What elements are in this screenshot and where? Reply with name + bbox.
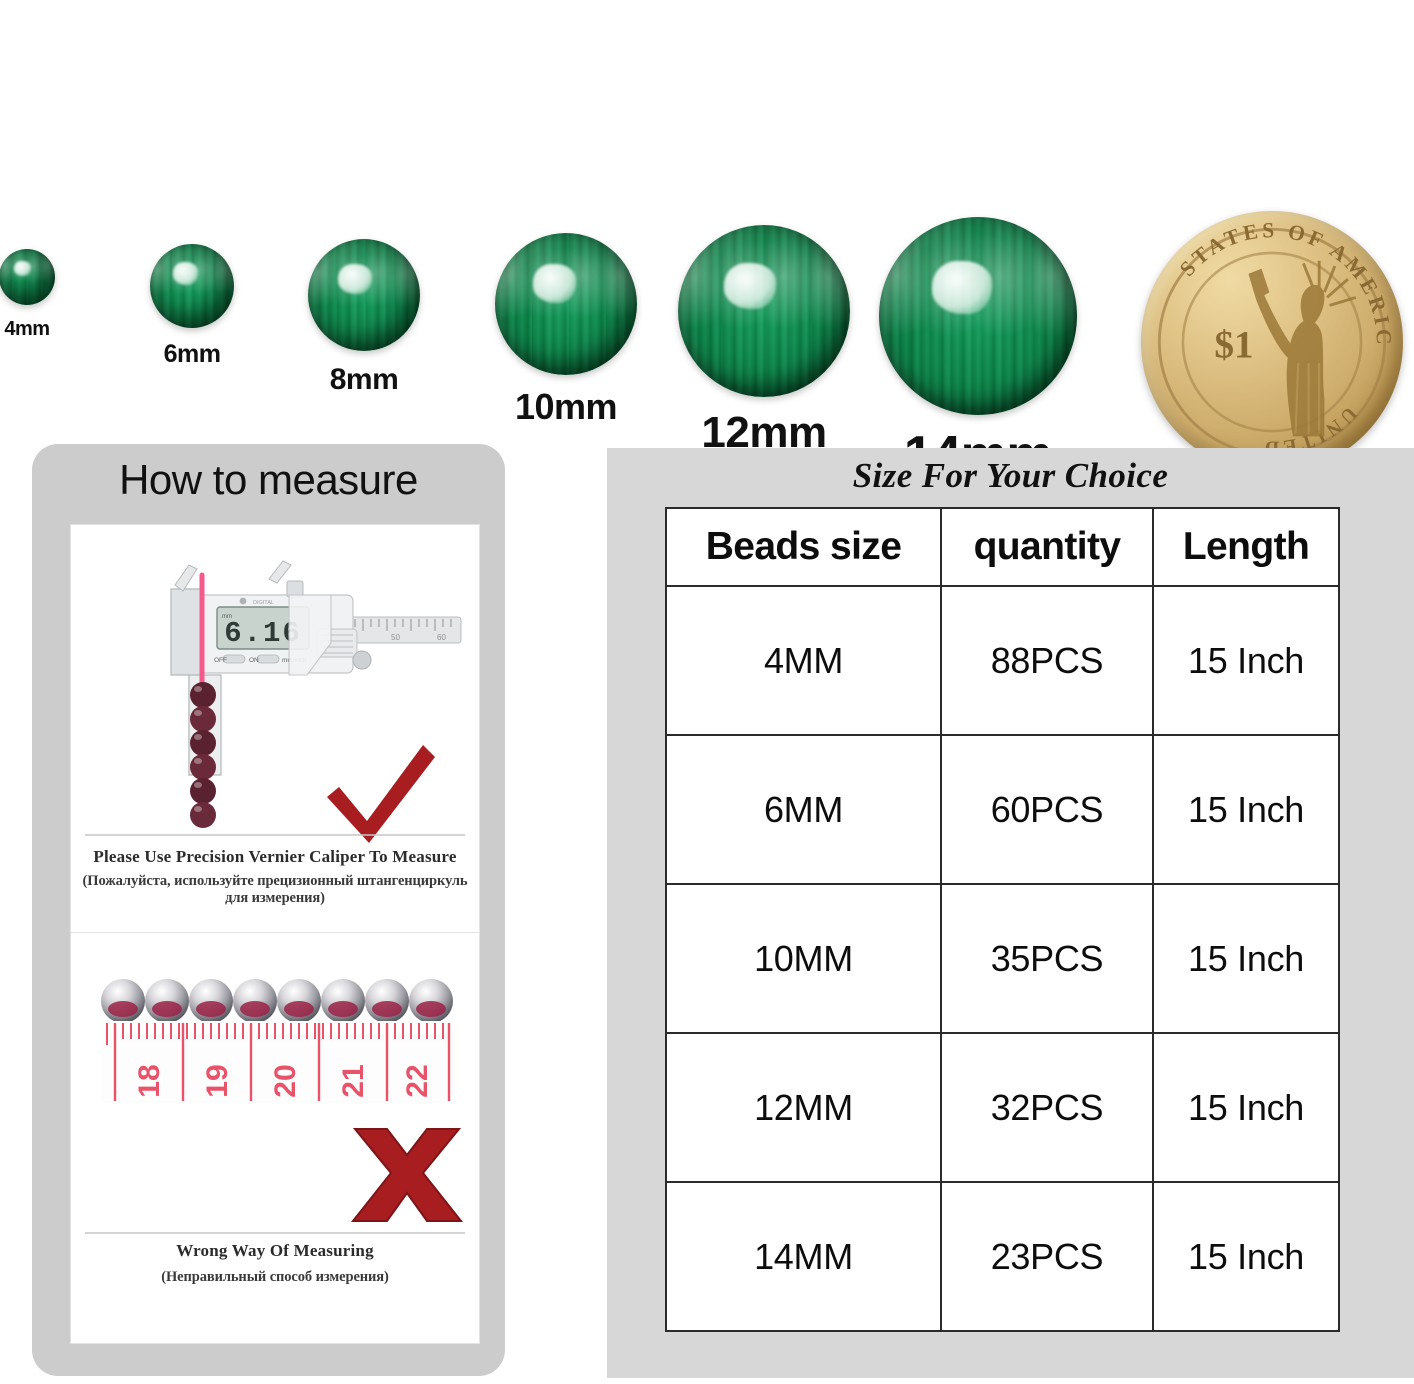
cell-beads-size: 10MM [666, 884, 941, 1033]
table-body: 4MM 88PCS 15 Inch 6MM 60PCS 15 Inch 10MM… [666, 586, 1339, 1331]
svg-text:19: 19 [201, 1064, 234, 1097]
bead-size-label: 6mm [164, 342, 221, 367]
cell-length: 15 Inch [1153, 1033, 1339, 1182]
bead-size-item-10mm: 10mm [476, 233, 656, 425]
bead-size-item-6mm: 6mm [102, 244, 282, 367]
size-table: Beads size quantity Length 4MM 88PCS 15 … [665, 507, 1340, 1332]
table-header-row: Beads size quantity Length [666, 508, 1339, 586]
svg-text:20: 20 [269, 1064, 302, 1097]
table-row: 14MM 23PCS 15 Inch [666, 1182, 1339, 1331]
cell-beads-size: 14MM [666, 1182, 941, 1331]
svg-text:mm: mm [222, 614, 232, 620]
tape-measure: 18 19 20 21 22 [101, 1021, 453, 1103]
svg-text:OFF: OFF [214, 657, 227, 664]
bead-size-label: 8mm [330, 365, 399, 395]
svg-text:22: 22 [401, 1064, 434, 1097]
wrong-caption-ru: (Неправильный способ измерения) [71, 1269, 479, 1286]
cell-quantity: 35PCS [941, 884, 1153, 1033]
cell-length: 15 Inch [1153, 884, 1339, 1033]
malachite-bead-6mm [150, 244, 234, 328]
cell-beads-size: 12MM [666, 1033, 941, 1182]
cell-length: 15 Inch [1153, 586, 1339, 735]
table-row: 6MM 60PCS 15 Inch [666, 735, 1339, 884]
wrong-caption-en: Wrong Way Of Measuring [71, 1241, 479, 1261]
column-header-length: Length [1153, 508, 1339, 586]
cell-quantity: 32PCS [941, 1033, 1153, 1182]
bead-size-label: 10mm [515, 389, 617, 425]
cell-quantity: 23PCS [941, 1182, 1153, 1331]
cell-length: 15 Inch [1153, 735, 1339, 884]
malachite-bead-12mm [678, 225, 850, 397]
wrong-measuring-card: 18 19 20 21 22 Wrong Way Of Measuring (Н… [70, 932, 480, 1344]
table-row: 4MM 88PCS 15 Inch [666, 586, 1339, 735]
bead-size-item-14mm: 14mm [888, 217, 1068, 481]
table-row: 10MM 35PCS 15 Inch [666, 884, 1339, 1033]
table-row: 12MM 32PCS 15 Inch [666, 1033, 1339, 1182]
bead-size-comparison-row: 4mm6mm8mm10mm12mm14mmSTATES OF AMERICAUN… [0, 0, 1414, 345]
correct-caption-en: Please Use Precision Vernier Caliper To … [71, 847, 479, 867]
vernier-caliper-illustration: 40 50 60 6.16 mm OFF ON mm/inch [71, 525, 479, 885]
column-header-beads-size: Beads size [666, 508, 941, 586]
svg-text:18: 18 [133, 1064, 166, 1097]
cell-quantity: 60PCS [941, 735, 1153, 884]
malachite-bead-8mm [308, 239, 420, 351]
cell-length: 15 Inch [1153, 1182, 1339, 1331]
svg-text:21: 21 [337, 1064, 370, 1097]
correct-caption-ru: (Пожалуйста, используйте прецизионный шт… [71, 873, 479, 907]
cell-quantity: 88PCS [941, 586, 1153, 735]
svg-text:60: 60 [437, 633, 446, 642]
bead-size-item-4mm: 4mm [0, 249, 117, 339]
tape-measure-illustration: 18 19 20 21 22 [71, 933, 479, 1273]
svg-text:50: 50 [391, 633, 400, 642]
malachite-bead-10mm [495, 233, 637, 375]
cell-beads-size: 6MM [666, 735, 941, 884]
svg-text:DIGITAL: DIGITAL [253, 600, 274, 606]
size-table-title: Size For Your Choice [607, 456, 1414, 496]
dollar-coin: STATES OF AMERICAUNITED$1 [1141, 211, 1403, 473]
malachite-bead-14mm [879, 217, 1077, 415]
bead-size-label: 4mm [4, 319, 49, 339]
svg-text:ON: ON [249, 657, 259, 664]
bead-size-item-12mm: 12mm [674, 225, 854, 455]
cell-beads-size: 4MM [666, 586, 941, 735]
column-header-quantity: quantity [941, 508, 1153, 586]
bead-size-item-8mm: 8mm [274, 239, 454, 395]
how-to-measure-title: How to measure [32, 456, 505, 504]
malachite-bead-4mm [0, 249, 55, 305]
size-for-your-choice-panel: Size For Your Choice Beads size quantity… [607, 448, 1414, 1378]
correct-measuring-card: 40 50 60 6.16 mm OFF ON mm/inch [70, 524, 480, 954]
how-to-measure-panel: How to measure 40 50 [32, 444, 505, 1376]
svg-text:$1: $1 [1214, 323, 1253, 367]
